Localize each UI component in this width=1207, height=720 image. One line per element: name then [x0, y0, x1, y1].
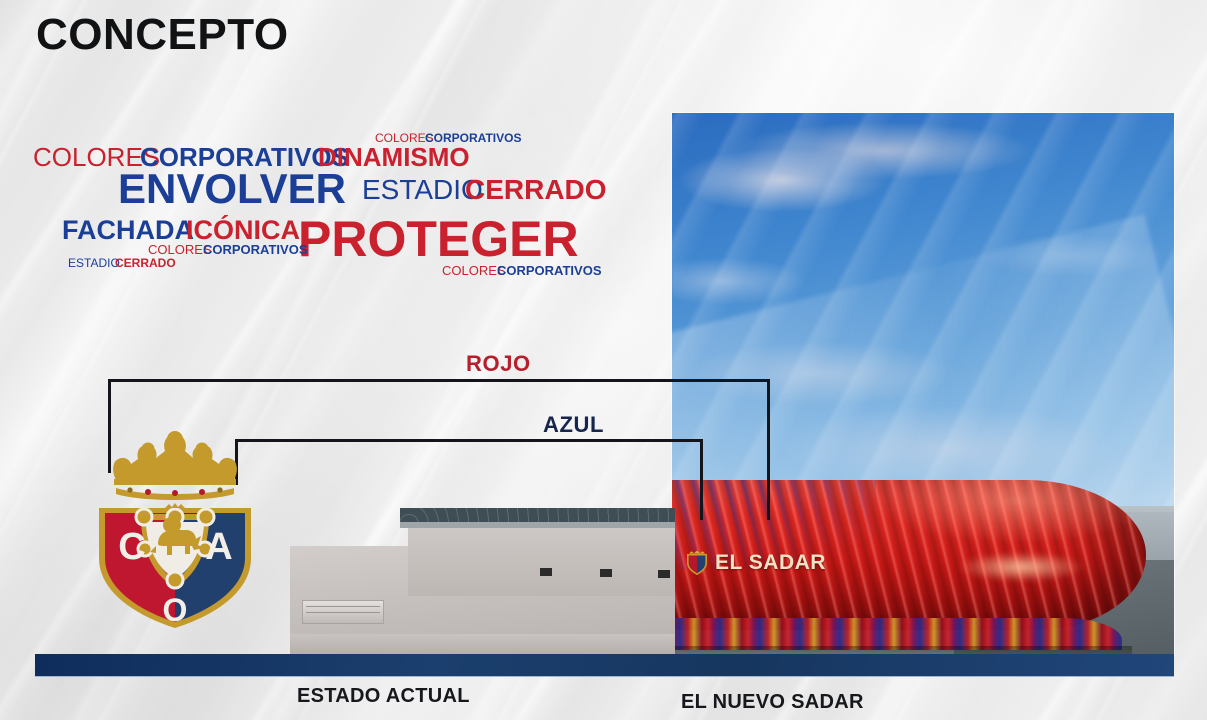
page-title: CONCEPTO	[36, 13, 289, 57]
word-cloud-item: FACHADA	[62, 217, 194, 244]
stadium-upper-facade	[408, 518, 675, 596]
el-sadar-signage: EL SADAR	[686, 550, 826, 576]
word-cloud-item: ESTADIO	[68, 257, 120, 269]
osasuna-mini-crest-icon	[686, 550, 708, 576]
crown-icon	[113, 431, 237, 500]
word-cloud-item: CORPORATIVOS	[497, 264, 602, 277]
bottom-blue-band	[35, 654, 1174, 677]
new-stadium-render-panel: EL SADAR	[672, 113, 1174, 656]
facade-window	[658, 570, 670, 578]
azul-bracket-top	[235, 439, 700, 442]
rojo-label: ROJO	[466, 353, 531, 375]
rojo-bracket-top	[108, 379, 767, 382]
rojo-bracket-right-leg	[767, 379, 770, 520]
current-stadium-photo	[290, 500, 675, 656]
club-crest: C A O	[86, 424, 263, 630]
facade-window	[600, 569, 612, 577]
word-cloud-item: ICÓNICA	[186, 217, 300, 244]
word-cloud-item: ENVOLVER	[118, 168, 346, 210]
crest-letter-o: O	[163, 592, 188, 628]
word-cloud-item: CERRADO	[465, 176, 607, 204]
crest-letter-a: A	[205, 526, 232, 568]
caption-estado-actual: ESTADO ACTUAL	[297, 685, 470, 708]
facade-balcony	[302, 600, 384, 624]
word-cloud-item: CORPORATIVOS	[203, 243, 308, 256]
slide-canvas: CONCEPTO COLORESCORPORATIVOSDINAMISMOCOL…	[0, 0, 1207, 720]
word-cloud-item: CERRADO	[115, 257, 176, 269]
word-cloud-item: PROTEGER	[298, 214, 579, 264]
facade-window	[540, 568, 552, 576]
el-sadar-label: EL SADAR	[715, 551, 826, 575]
azul-bracket-right-leg	[700, 439, 703, 520]
caption-nuevo-sadar: EL NUEVO SADAR	[681, 691, 864, 714]
facade-highlight	[796, 480, 1146, 555]
stadium-base	[290, 634, 675, 656]
word-cloud-item: CORPORATIVOS	[425, 132, 521, 144]
facade-light-glow	[956, 552, 1086, 582]
crest-letter-c: C	[118, 526, 145, 568]
azul-label: AZUL	[543, 414, 604, 436]
roof-edge	[400, 522, 675, 528]
